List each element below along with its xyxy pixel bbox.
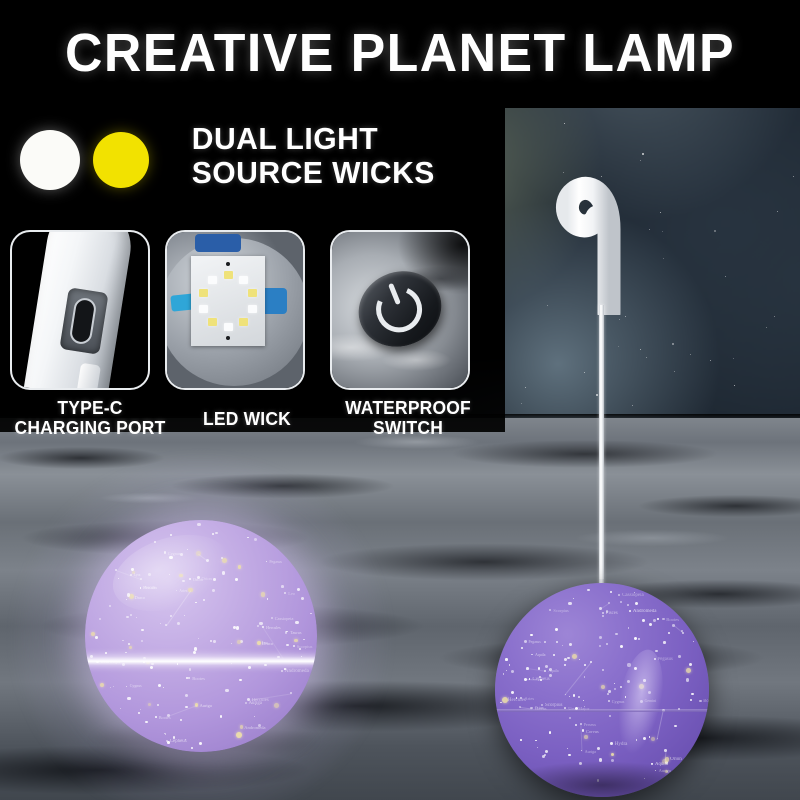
star-marker	[620, 645, 623, 648]
constellation-line	[565, 662, 592, 695]
globe-equator-band	[85, 656, 317, 665]
star-marker	[505, 658, 508, 661]
star-marker	[549, 732, 551, 734]
usb-type-c-port-icon	[12, 232, 148, 388]
constellation-label: Pisces	[606, 611, 618, 616]
star-marker	[188, 677, 190, 679]
lamp-globe-lit: TaurusUrsa MajorScorpiusDracoAurigaPisce…	[85, 520, 317, 752]
star-marker	[564, 664, 566, 666]
constellation-label: Hercules	[508, 698, 526, 703]
star-marker-bright	[611, 753, 614, 756]
star-marker	[193, 651, 196, 654]
star-marker	[195, 602, 196, 603]
star-marker	[113, 686, 114, 687]
star-marker	[165, 733, 167, 735]
star-marker-bright	[274, 703, 279, 708]
star-marker	[191, 747, 193, 749]
star-marker	[635, 602, 638, 605]
star-marker	[663, 641, 665, 643]
star-marker	[545, 750, 548, 753]
star-marker	[170, 534, 172, 536]
star-marker	[127, 697, 130, 700]
star-marker	[245, 702, 247, 704]
star-marker	[257, 625, 259, 627]
star-marker-bright	[651, 737, 656, 742]
star-marker	[95, 636, 98, 639]
led-chip	[199, 289, 208, 297]
star-marker	[254, 538, 257, 541]
star-marker-bright	[237, 640, 241, 644]
star-marker	[579, 659, 580, 660]
star-marker-bright	[148, 703, 152, 707]
lamp-globe-off: CassiopeiaPerseusPegasusOrionCorvusAurig…	[495, 583, 709, 797]
star-marker	[629, 610, 631, 612]
star-marker	[569, 643, 572, 646]
star-marker	[163, 687, 164, 688]
star-marker	[609, 715, 611, 717]
constellation-label: Cepheus	[533, 677, 550, 682]
globe-equator-seam	[495, 709, 709, 712]
star-marker	[293, 645, 295, 647]
star-marker	[109, 605, 111, 607]
star-marker	[197, 523, 200, 526]
star-marker	[136, 617, 137, 618]
star-marker	[285, 631, 288, 634]
star-marker	[575, 724, 577, 726]
star-marker	[254, 716, 256, 718]
star-marker	[628, 627, 630, 629]
star-marker	[236, 626, 239, 629]
yellow-light-dot	[93, 132, 149, 188]
star-marker	[266, 561, 267, 562]
star-marker	[166, 740, 168, 742]
star-marker	[653, 619, 656, 622]
constellation-label: Hercules	[266, 625, 281, 630]
star-marker	[210, 640, 212, 642]
constellation-label: Scorpius	[545, 703, 563, 708]
star-marker	[614, 683, 616, 685]
star-marker	[553, 654, 555, 656]
star-marker	[542, 755, 545, 758]
constellation-label: Auriga	[585, 749, 596, 754]
star-marker	[267, 598, 268, 599]
constellation-label: Bootes	[703, 699, 709, 704]
star-marker	[690, 699, 692, 701]
star-marker	[606, 643, 608, 645]
star-marker-bright	[294, 639, 298, 643]
star-marker	[506, 670, 507, 671]
constellation-label: Perseus	[584, 722, 596, 727]
star-marker	[122, 640, 124, 642]
star-marker	[303, 639, 305, 641]
star-marker	[615, 633, 617, 635]
star-marker	[235, 578, 238, 581]
white-light-dot	[20, 130, 80, 190]
constellation-label: Aquila	[535, 653, 545, 658]
power-button-icon	[332, 232, 468, 388]
star-marker	[286, 644, 289, 647]
board-mount-hole	[226, 336, 230, 340]
led-chip	[208, 276, 217, 284]
page-title: CREATIVE PLANET LAMP	[16, 22, 784, 84]
star-marker	[524, 640, 527, 643]
constellation-label: Corvus	[586, 729, 599, 734]
feature-thumbnail-switch	[330, 230, 470, 390]
star-marker	[189, 668, 192, 671]
star-marker	[567, 748, 569, 750]
star-marker-bright	[601, 685, 606, 690]
star-marker	[130, 614, 132, 616]
star-marker	[150, 666, 153, 669]
feature-thumbnail-row	[10, 230, 490, 392]
star-marker	[284, 592, 286, 594]
star-marker	[573, 598, 574, 599]
caption-switch-line2: SWITCH	[321, 418, 496, 438]
feature-caption-row: TYPE-C CHARGING PORT LED WICK WATERPROOF…	[0, 398, 500, 440]
led-pcb-board	[191, 256, 265, 346]
star-marker	[584, 664, 586, 666]
constellation-label: Bootes	[192, 676, 205, 681]
star-marker	[583, 700, 584, 701]
constellation-label: Bootes	[666, 617, 679, 622]
star-marker	[177, 622, 180, 625]
star-marker	[141, 640, 143, 642]
star-marker	[128, 643, 131, 646]
dual-light-badge: DUAL LIGHT SOURCE WICKS	[0, 118, 495, 188]
star-marker-bright	[572, 654, 578, 660]
constellation-label: Bootes	[159, 715, 171, 720]
led-board-icon	[167, 232, 303, 388]
star-marker	[158, 684, 161, 687]
star-marker	[556, 641, 558, 643]
star-marker-bright	[257, 641, 261, 645]
star-marker	[503, 673, 505, 675]
star-marker	[587, 589, 590, 592]
star-marker	[157, 704, 159, 706]
star-marker	[578, 696, 580, 698]
caption-switch-line1: WATERPROOF	[321, 398, 496, 418]
caption-led-wick: LED WICK	[174, 398, 320, 429]
star-marker	[573, 694, 576, 697]
led-chip	[208, 318, 217, 326]
star-marker	[642, 619, 645, 622]
constellation-line	[600, 603, 609, 609]
star-marker	[248, 666, 251, 669]
star-marker	[638, 638, 640, 640]
constellation-label: Cygnus	[130, 684, 142, 689]
star-marker	[602, 669, 604, 671]
star-marker	[674, 725, 677, 728]
star-marker	[212, 533, 214, 535]
caption-type-c: TYPE-C CHARGING PORT	[1, 398, 179, 438]
constellation-label: Cassiopeia	[622, 593, 644, 598]
star-marker	[126, 616, 128, 618]
star-marker	[544, 641, 546, 643]
led-chip	[239, 276, 248, 284]
star-marker	[213, 640, 216, 643]
star-marker	[597, 747, 600, 750]
star-marker	[203, 599, 205, 601]
planet-lamp-lit: TaurusUrsa MajorScorpiusDracoAurigaPisce…	[85, 520, 317, 752]
badge-line-1: DUAL LIGHT	[192, 122, 435, 156]
star-marker	[239, 679, 241, 681]
star-marker	[614, 688, 616, 690]
star-marker	[99, 618, 101, 620]
star-marker	[281, 585, 284, 588]
constellation-label: Leo	[262, 641, 268, 646]
constellation-line	[168, 705, 197, 717]
constellation-label: Scorpius	[553, 608, 568, 613]
star-marker	[599, 645, 601, 647]
star-marker-bright	[238, 565, 242, 569]
led-chip	[248, 305, 257, 313]
star-marker	[194, 647, 197, 650]
star-marker-bright	[129, 646, 132, 649]
led-chip	[224, 271, 233, 279]
led-chip	[199, 305, 208, 313]
star-marker	[602, 612, 604, 614]
constellation-label: Andromeda	[633, 609, 657, 614]
star-marker-bright	[91, 632, 95, 636]
caption-type-c-line1: TYPE-C	[1, 398, 179, 418]
star-marker	[634, 637, 637, 640]
star-marker	[610, 742, 613, 745]
star-marker	[297, 588, 300, 591]
constellation-label: Scorpius	[297, 644, 313, 649]
dual-light-badge-text: DUAL LIGHT SOURCE WICKS	[192, 122, 435, 190]
caption-switch: WATERPROOF SWITCH	[321, 398, 496, 438]
star-marker	[555, 628, 558, 631]
star-marker	[180, 719, 182, 721]
star-marker	[668, 632, 670, 634]
constellation-label: Auriga	[200, 703, 212, 708]
star-marker	[141, 629, 143, 631]
star-marker	[145, 721, 148, 724]
star-marker	[140, 709, 141, 710]
star-marker	[627, 604, 629, 606]
star-marker	[689, 663, 692, 666]
star-marker	[281, 670, 284, 673]
constellation-label: Andromeda	[244, 725, 265, 730]
star-marker	[691, 693, 694, 696]
star-marker	[125, 652, 127, 654]
constellation-label: Aquila	[548, 669, 558, 674]
star-marker	[569, 717, 571, 719]
star-marker	[138, 712, 141, 715]
power-symbol-glyph	[369, 279, 429, 339]
caption-led-wick-line1: LED WICK	[174, 409, 320, 429]
star-marker	[271, 617, 273, 619]
led-chip	[239, 318, 248, 326]
star-marker	[686, 678, 689, 681]
star-marker	[599, 636, 602, 639]
star-marker	[582, 729, 584, 731]
star-marker	[662, 618, 665, 621]
constellation-line	[527, 668, 545, 672]
star-marker	[649, 623, 652, 626]
constellation-label: Hercules	[252, 698, 269, 703]
star-marker-bright	[686, 668, 691, 673]
star-marker	[247, 537, 248, 538]
star-marker	[655, 650, 658, 653]
star-marker	[105, 652, 107, 654]
star-marker	[521, 647, 523, 649]
star-marker	[620, 601, 622, 603]
star-marker	[537, 747, 538, 748]
star-marker	[562, 645, 564, 647]
star-marker	[110, 687, 111, 688]
constellation-label: Taurus	[290, 630, 301, 635]
constellation-label: Cassiopeia	[275, 616, 294, 621]
star-marker	[155, 716, 157, 718]
star-marker	[531, 654, 533, 656]
star-marker	[198, 638, 199, 639]
star-marker	[568, 602, 571, 605]
star-marker	[608, 700, 610, 702]
badge-line-2: SOURCE WICKS	[192, 156, 435, 190]
constellation-label: Cepheus	[170, 739, 187, 744]
star-marker	[520, 739, 522, 741]
star-marker	[120, 708, 121, 709]
board-mount-hole	[226, 262, 230, 266]
constellation-label: Leo	[288, 591, 295, 596]
led-chip	[224, 323, 233, 331]
constellation-label: Orion	[670, 757, 682, 762]
star-marker-bright	[100, 683, 105, 688]
star-marker	[184, 615, 185, 616]
product-ad-image: CREATIVE PLANET LAMP DUAL LIGHT SOURCE W…	[0, 0, 800, 800]
constellation-label: Pegasus	[269, 560, 282, 565]
blue-component-top	[195, 234, 241, 252]
star-marker	[618, 594, 620, 596]
star-marker-bright	[261, 592, 266, 597]
planet-lamp-hanging: CassiopeiaPerseusPegasusOrionCorvusAurig…	[495, 155, 715, 800]
star-marker	[511, 670, 514, 673]
star-marker	[500, 702, 502, 704]
star-marker	[568, 754, 570, 756]
star-marker	[225, 689, 228, 692]
star-marker	[610, 591, 613, 594]
star-marker	[569, 696, 570, 697]
caption-type-c-line2: CHARGING PORT	[1, 418, 179, 438]
star-marker	[215, 532, 218, 535]
constellation-label: Andromeda	[285, 669, 309, 674]
hanging-hook-icon	[551, 155, 661, 315]
star-marker	[220, 715, 223, 718]
star-marker	[295, 621, 298, 624]
star-marker	[185, 694, 188, 697]
star-marker	[199, 742, 202, 745]
star-marker	[693, 641, 694, 642]
star-marker	[678, 655, 681, 658]
star-marker	[126, 686, 127, 687]
star-marker	[509, 664, 511, 666]
star-marker-bright	[584, 735, 588, 739]
star-marker	[657, 618, 658, 619]
star-marker	[699, 700, 702, 703]
star-marker	[607, 693, 609, 695]
feature-thumbnail-type-c	[10, 230, 150, 390]
lamp-pole-upper	[599, 305, 604, 585]
star-marker	[301, 597, 304, 600]
star-marker-bright	[240, 725, 243, 728]
star-marker	[511, 691, 514, 694]
star-marker	[535, 740, 537, 742]
star-marker	[160, 623, 161, 624]
star-marker	[549, 609, 551, 611]
led-chip	[248, 289, 257, 297]
star-marker	[530, 634, 533, 637]
star-marker	[602, 615, 604, 617]
star-marker	[231, 643, 232, 644]
star-marker	[310, 613, 312, 615]
star-marker	[567, 657, 570, 660]
constellation-label: Pegasus	[529, 640, 541, 645]
star-marker-bright	[236, 732, 242, 738]
feature-thumbnail-led-wick	[165, 230, 305, 390]
star-marker	[584, 676, 586, 678]
